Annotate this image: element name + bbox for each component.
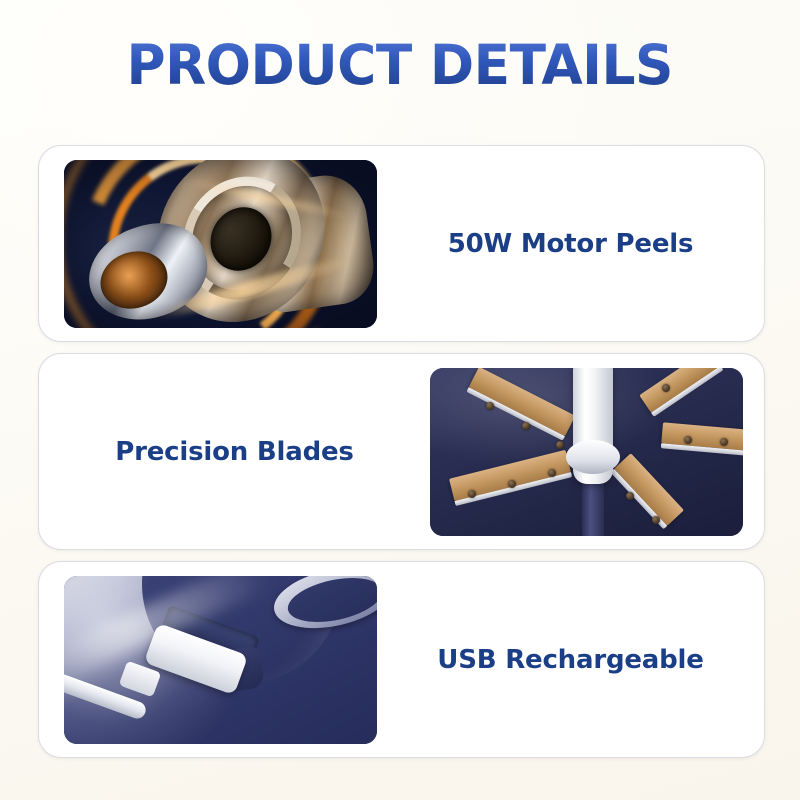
blade-screw — [720, 438, 728, 446]
blade-screw — [508, 480, 516, 488]
blade-screw — [522, 422, 530, 430]
image-vignette — [64, 160, 377, 328]
blade-screw — [684, 436, 692, 444]
feature-label-usb: USB Rechargeable — [377, 645, 764, 675]
blade-screw — [662, 384, 670, 392]
feature-card-usb[interactable]: USB Rechargeable — [38, 561, 765, 758]
feature-card-blades[interactable]: Precision Blades — [38, 353, 765, 550]
motor-closeup-image — [64, 160, 377, 328]
feature-label-blades: Precision Blades — [39, 437, 430, 467]
blade-screw — [548, 469, 556, 477]
feature-card-motor[interactable]: 50W Motor Peels — [38, 145, 765, 342]
motor-artwork — [64, 160, 377, 328]
usb-artwork — [64, 576, 377, 744]
feature-label-motor: 50W Motor Peels — [377, 229, 764, 259]
blade-screw — [652, 516, 660, 524]
blade-screw — [486, 402, 494, 410]
blades-artwork — [430, 368, 743, 536]
shaft-base-collar — [566, 440, 620, 474]
page-title: PRODUCT DETAILS — [127, 38, 674, 93]
blade-assembly-image — [430, 368, 743, 536]
blade-screw — [556, 441, 564, 449]
blade-screw — [626, 492, 634, 500]
page-title-container: PRODUCT DETAILS — [0, 38, 800, 93]
blade-screw — [468, 490, 476, 498]
usb-charging-image — [64, 576, 377, 744]
feature-card-list: 50W Motor Peels — [38, 145, 765, 758]
